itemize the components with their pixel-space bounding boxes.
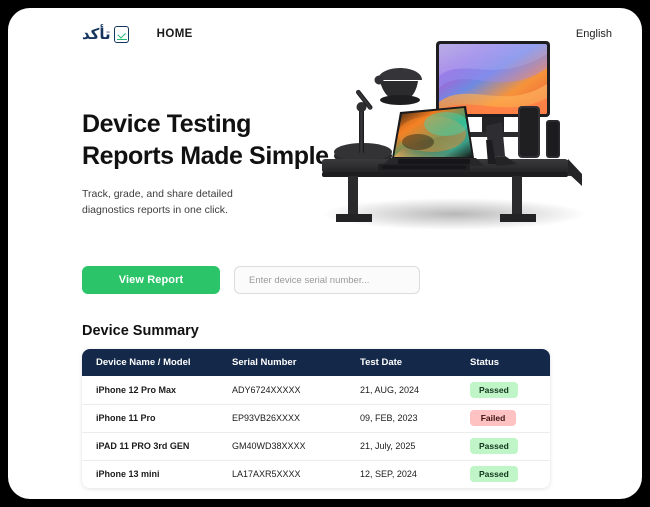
hero-cta-row: View Report (82, 266, 420, 294)
device-summary-table: Device Name / Model Serial Number Test D… (82, 349, 550, 488)
keyboard (378, 164, 470, 171)
serial-number-input[interactable] (234, 266, 420, 294)
status-badge: Passed (470, 382, 518, 398)
page-card: تأكد HOME English Device Testing Reports… (8, 8, 642, 499)
cell-status: Passed (470, 432, 550, 460)
column-header-status[interactable]: Status (470, 349, 550, 376)
cell-serial: LA17AXR5XXXX (232, 460, 360, 488)
cell-status: Failed (470, 404, 550, 432)
cell-date: 12, SEP, 2024 (360, 460, 470, 488)
status-badge: Failed (470, 410, 516, 426)
cell-status: Passed (470, 376, 550, 404)
device-summary-table-container: Device Name / Model Serial Number Test D… (82, 349, 550, 488)
status-badge: Passed (470, 438, 518, 454)
status-badge: Passed (470, 466, 518, 482)
desk-workstation-illustration (306, 28, 602, 238)
cell-device: iPAD 11 PRO 3rd GEN (82, 432, 232, 460)
cell-date: 21, July, 2025 (360, 432, 470, 460)
brand-wordmark: تأكد (82, 27, 111, 42)
cell-serial: GM40WD38XXXX (232, 432, 360, 460)
device-summary-title: Device Summary (82, 323, 199, 339)
brand-logo[interactable]: تأكد (82, 26, 129, 43)
table-head: Device Name / Model Serial Number Test D… (82, 349, 550, 376)
column-header-device[interactable]: Device Name / Model (82, 349, 232, 376)
hero-subheading: Track, grade, and share detailed diagnos… (82, 186, 257, 218)
cell-date: 21, AUG, 2024 (360, 376, 470, 404)
nav-item-home[interactable]: HOME (157, 28, 193, 40)
cell-device: iPhone 13 mini (82, 460, 232, 488)
cell-device: iPhone 12 Pro Max (82, 376, 232, 404)
cell-device: iPhone 11 Pro (82, 404, 232, 432)
cell-serial: EP93VB26XXXX (232, 404, 360, 432)
speaker (546, 120, 560, 158)
table-row[interactable]: iPhone 11 Pro EP93VB26XXXX 09, FEB, 2023… (82, 404, 550, 432)
page-title: Device Testing Reports Made Simple (82, 108, 332, 172)
column-header-date[interactable]: Test Date (360, 349, 470, 376)
cell-status: Passed (470, 460, 550, 488)
smartphone (518, 106, 540, 158)
table-header-row: Device Name / Model Serial Number Test D… (82, 349, 550, 376)
view-report-button[interactable]: View Report (82, 266, 220, 294)
table-row[interactable]: iPhone 12 Pro Max ADY6724XXXXX 21, AUG, … (82, 376, 550, 404)
column-header-serial[interactable]: Serial Number (232, 349, 360, 376)
hero-text-block: Device Testing Reports Made Simple Track… (82, 108, 332, 218)
cell-date: 09, FEB, 2023 (360, 404, 470, 432)
table-body: iPhone 12 Pro Max ADY6724XXXXX 21, AUG, … (82, 376, 550, 488)
table-row[interactable]: iPAD 11 PRO 3rd GEN GM40WD38XXXX 21, Jul… (82, 432, 550, 460)
checkmark-badge-icon (114, 26, 129, 43)
cell-serial: ADY6724XXXXX (232, 376, 360, 404)
table-row[interactable]: iPhone 13 mini LA17AXR5XXXX 12, SEP, 202… (82, 460, 550, 488)
